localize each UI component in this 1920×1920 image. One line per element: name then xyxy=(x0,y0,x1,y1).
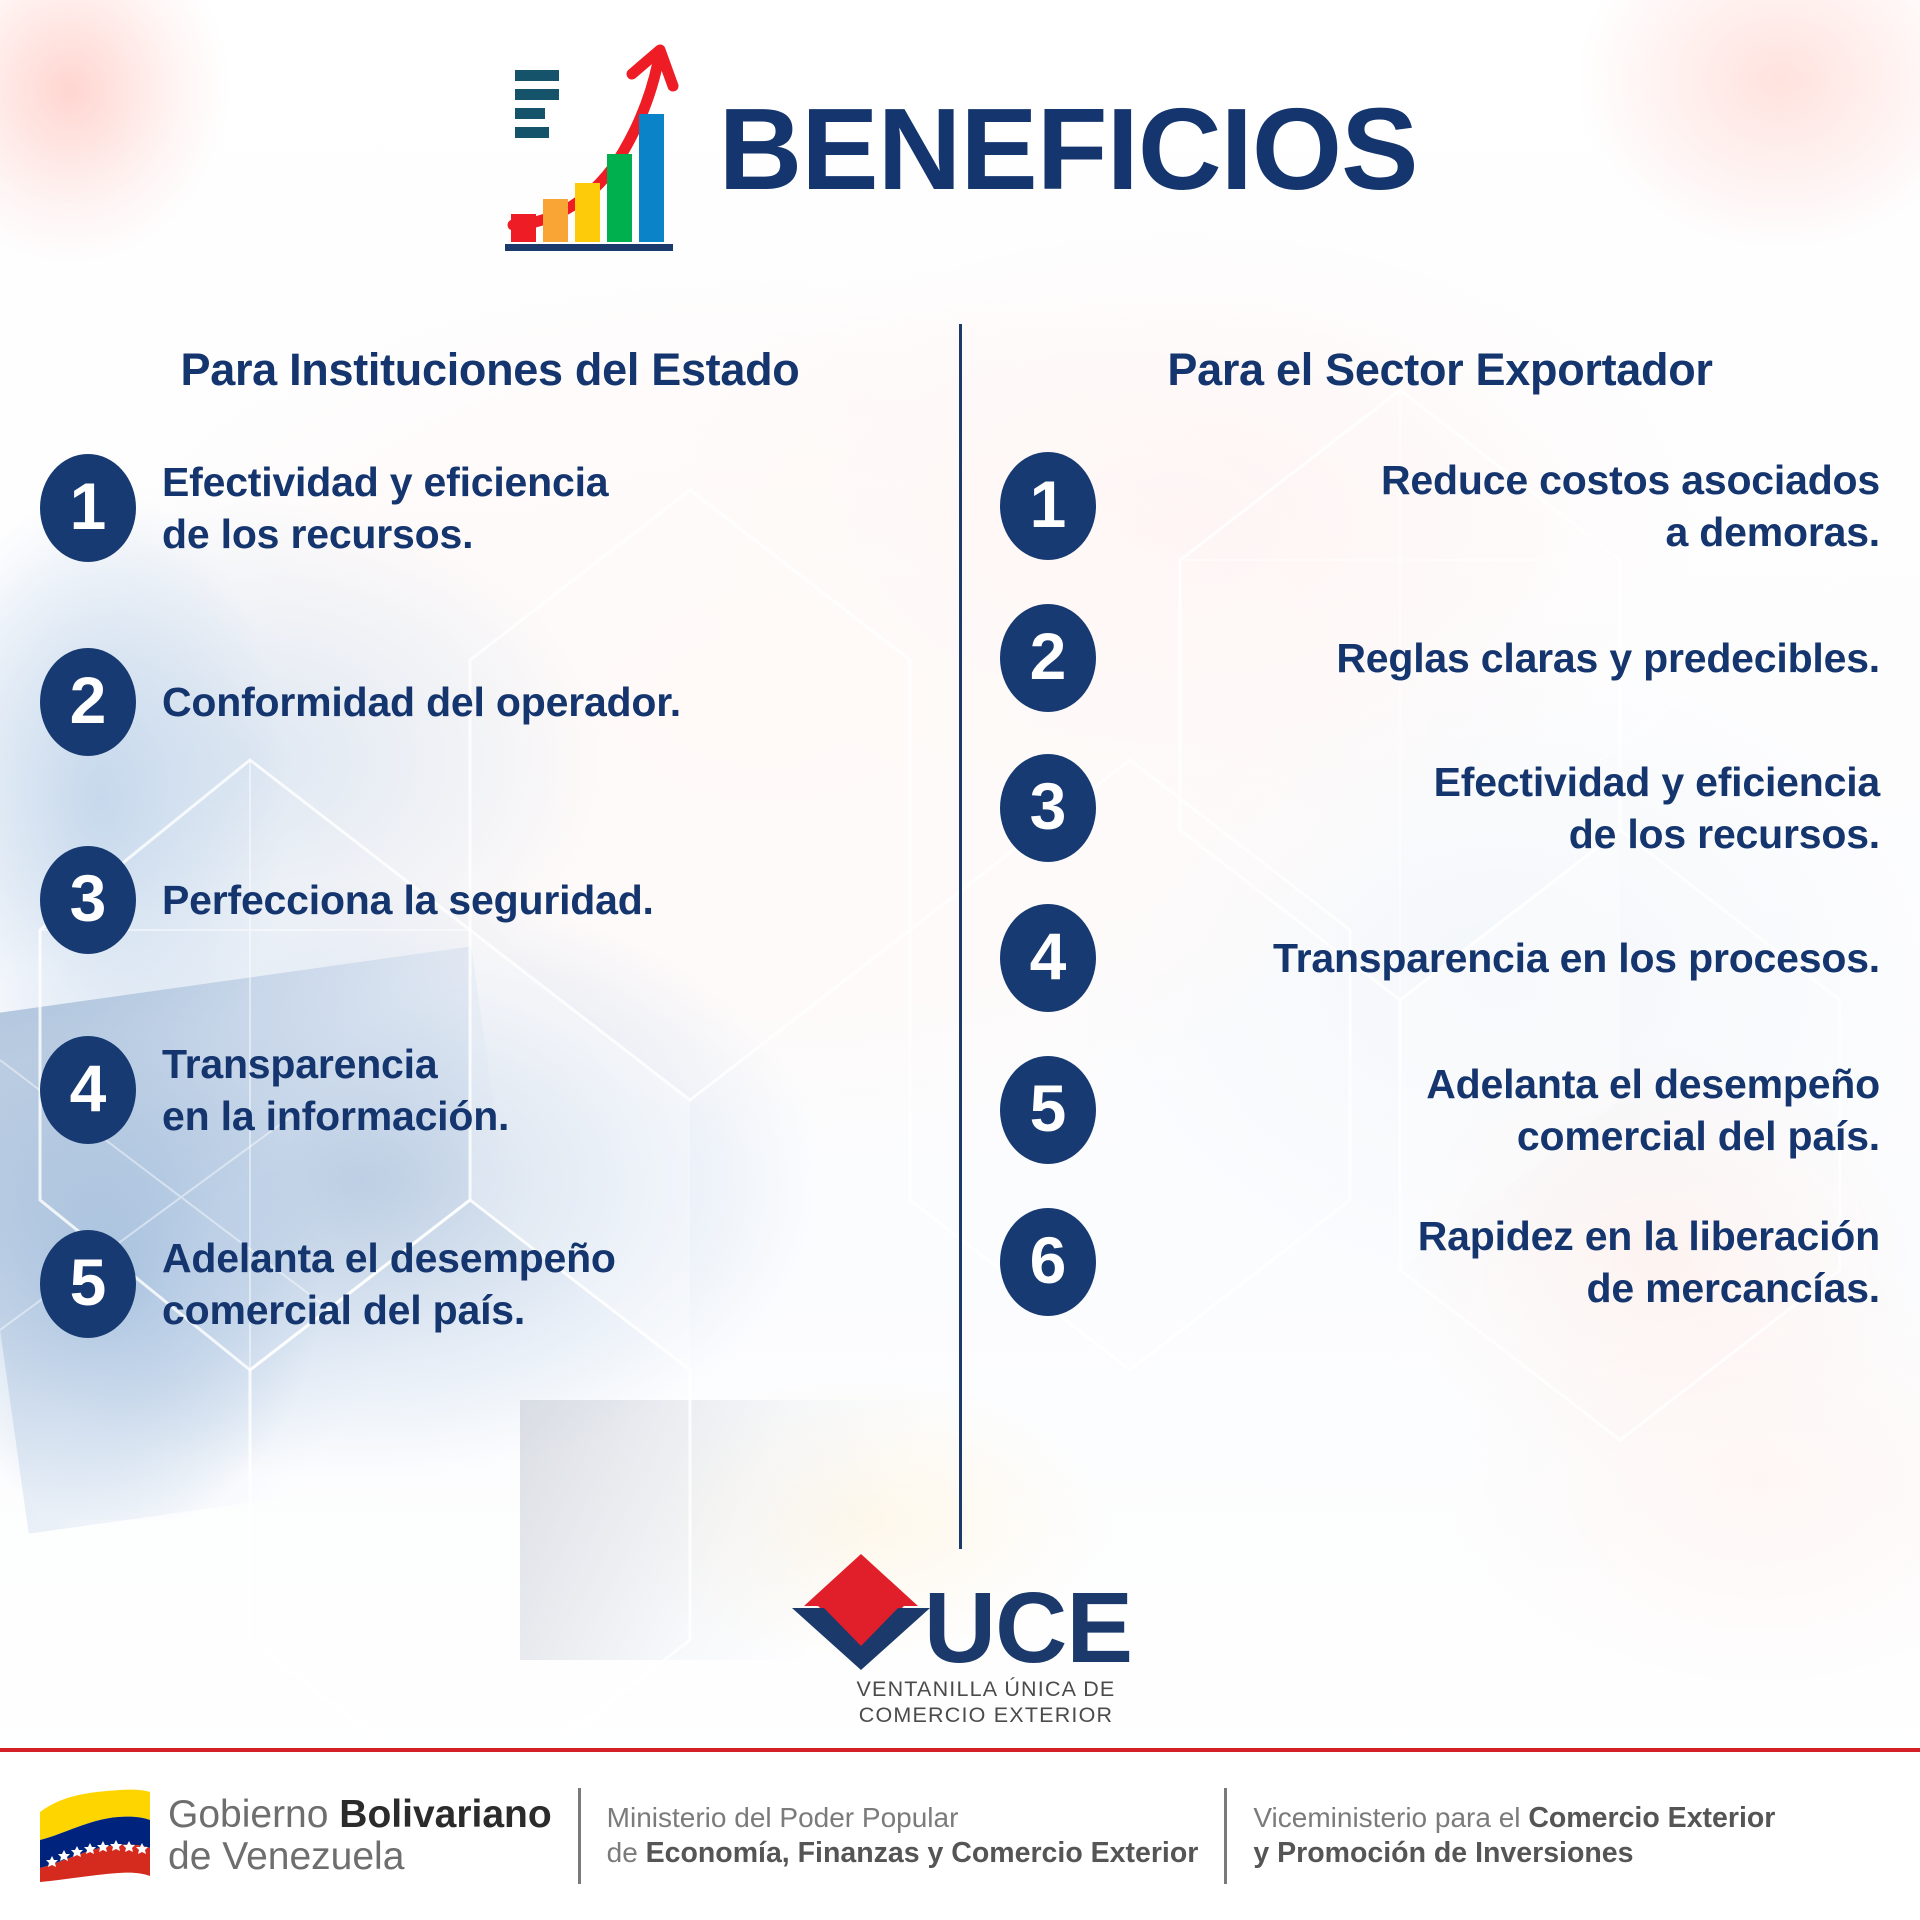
bullet-number: 3 xyxy=(40,846,136,954)
menu-lines-icon xyxy=(515,70,559,138)
benefit-list-left: 1 Efectividad y eficiencia de los recurs… xyxy=(40,454,940,1338)
benefit-text: Rapidez en la liberación de mercancías. xyxy=(1122,1210,1880,1315)
list-item: 3 Efectividad y eficiencia de los recurs… xyxy=(1000,754,1880,862)
bullet-number: 2 xyxy=(40,648,136,756)
benefit-line: a demoras. xyxy=(1122,506,1880,558)
column-heading-right: Para el Sector Exportador xyxy=(1000,300,1880,396)
viceministry-line2: y Promoción de Inversiones xyxy=(1253,1836,1775,1871)
bullet-number: 5 xyxy=(40,1230,136,1338)
benefit-line: Efectividad y eficiencia xyxy=(162,456,608,508)
benefit-line: Adelanta el desempeño xyxy=(162,1232,616,1284)
benefit-line: Reduce costos asociados xyxy=(1122,454,1880,506)
government-line1: Gobierno Bolivariano xyxy=(168,1794,552,1836)
footer-separator-2 xyxy=(1224,1788,1227,1884)
benefit-line: comercial del país. xyxy=(162,1284,616,1336)
vuce-logo-row: UCE xyxy=(788,1548,1132,1674)
ministry-block: Ministerio del Poder Popular de Economía… xyxy=(607,1801,1199,1871)
benefit-text: Adelanta el desempeño comercial del país… xyxy=(1122,1058,1880,1163)
benefit-line: Perfecciona la seguridad. xyxy=(162,874,654,926)
viceministry-line1: Viceministerio para el Comercio Exterior xyxy=(1253,1801,1775,1836)
benefit-text: Perfecciona la seguridad. xyxy=(162,874,654,926)
bullet-number: 6 xyxy=(1000,1208,1096,1316)
footer-separator-1 xyxy=(578,1788,581,1884)
list-item: 6 Rapidez en la liberación de mercancías… xyxy=(1000,1208,1880,1316)
vuce-subtitle-line1: VENTANILLA ÚNICA DE xyxy=(857,1676,1116,1702)
benefit-text: Transparencia en la información. xyxy=(162,1038,509,1143)
benefit-line: Efectividad y eficiencia xyxy=(1122,756,1880,808)
growth-bar-chart-arrow-icon xyxy=(503,42,703,257)
benefits-columns: Para Instituciones del Estado 1 Efectivi… xyxy=(0,300,1920,1560)
list-item: 4 Transparencia en la información. xyxy=(40,1036,940,1144)
bullet-number: 2 xyxy=(1000,604,1096,712)
list-item: 1 Efectividad y eficiencia de los recurs… xyxy=(40,454,940,562)
benefit-text: Efectividad y eficiencia de los recursos… xyxy=(1122,756,1880,861)
list-item: 1 Reduce costos asociados a demoras. xyxy=(1000,452,1880,560)
benefit-line: Transparencia xyxy=(162,1038,509,1090)
bullet-number: 4 xyxy=(40,1036,136,1144)
benefit-text: Conformidad del operador. xyxy=(162,676,681,728)
list-item: 2 Conformidad del operador. xyxy=(40,648,940,756)
vuce-subtitle: VENTANILLA ÚNICA DE COMERCIO EXTERIOR xyxy=(857,1676,1116,1728)
venezuela-flag-icon xyxy=(34,1784,154,1888)
header: BENEFICIOS xyxy=(0,34,1920,264)
benefit-text: Adelanta el desempeño comercial del país… xyxy=(162,1232,616,1337)
benefit-line: comercial del país. xyxy=(1122,1110,1880,1162)
government-name: Gobierno Bolivariano de Venezuela xyxy=(168,1794,552,1878)
vuce-logo: UCE VENTANILLA ÚNICA DE COMERCIO EXTERIO… xyxy=(0,1548,1920,1728)
benefit-text: Reduce costos asociados a demoras. xyxy=(1122,454,1880,559)
benefit-text: Efectividad y eficiencia de los recursos… xyxy=(162,456,608,561)
benefit-line: Rapidez en la liberación xyxy=(1122,1210,1880,1262)
bullet-number: 1 xyxy=(40,454,136,562)
column-instituciones-del-estado: Para Instituciones del Estado 1 Efectivi… xyxy=(40,300,940,1338)
ministry-line1: Ministerio del Poder Popular xyxy=(607,1801,1199,1836)
benefit-line: Adelanta el desempeño xyxy=(1122,1058,1880,1110)
bullet-number: 3 xyxy=(1000,754,1096,862)
ministry-line2: de Economía, Finanzas y Comercio Exterio… xyxy=(607,1836,1199,1871)
list-item: 2 Reglas claras y predecibles. xyxy=(1000,604,1880,712)
benefit-text: Transparencia en los procesos. xyxy=(1122,932,1880,984)
vuce-v-diamond-icon xyxy=(788,1548,934,1674)
list-item: 4 Transparencia en los procesos. xyxy=(1000,904,1880,1012)
benefit-text: Reglas claras y predecibles. xyxy=(1122,632,1880,684)
bullet-number: 4 xyxy=(1000,904,1096,1012)
benefit-line: en la información. xyxy=(162,1090,509,1142)
bullet-number: 5 xyxy=(1000,1056,1096,1164)
benefit-line: Reglas claras y predecibles. xyxy=(1122,632,1880,684)
bullet-number: 1 xyxy=(1000,452,1096,560)
government-brand: Gobierno Bolivariano de Venezuela xyxy=(34,1784,552,1888)
benefit-line: Conformidad del operador. xyxy=(162,676,681,728)
benefit-line: de mercancías. xyxy=(1122,1262,1880,1314)
benefit-line: de los recursos. xyxy=(162,508,608,560)
page-title: BENEFICIOS xyxy=(719,91,1418,207)
footer: Gobierno Bolivariano de Venezuela Minist… xyxy=(0,1752,1920,1920)
benefit-line: Transparencia en los procesos. xyxy=(1122,932,1880,984)
column-divider xyxy=(959,324,962,1549)
benefit-line: de los recursos. xyxy=(1122,808,1880,860)
list-item: 5 Adelanta el desempeño comercial del pa… xyxy=(40,1230,940,1338)
column-heading-left: Para Instituciones del Estado xyxy=(40,300,940,396)
list-item: 5 Adelanta el desempeño comercial del pa… xyxy=(1000,1056,1880,1164)
vuce-subtitle-line2: COMERCIO EXTERIOR xyxy=(857,1702,1116,1728)
infographic-page: BENEFICIOS Para Instituciones del Estado… xyxy=(0,0,1920,1920)
column-sector-exportador: Para el Sector Exportador 1 Reduce costo… xyxy=(1000,300,1880,1316)
benefit-list-right: 1 Reduce costos asociados a demoras. 2 R… xyxy=(1000,452,1880,1316)
vuce-wordmark: UCE xyxy=(924,1582,1132,1674)
list-item: 3 Perfecciona la seguridad. xyxy=(40,846,940,954)
viceministry-block: Viceministerio para el Comercio Exterior… xyxy=(1253,1801,1775,1872)
government-line2: de Venezuela xyxy=(168,1836,552,1878)
